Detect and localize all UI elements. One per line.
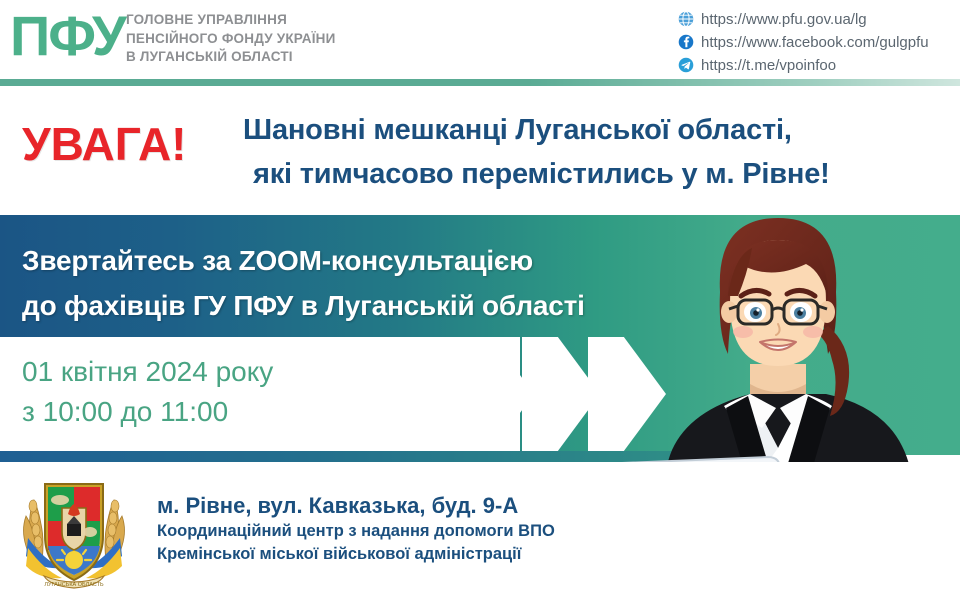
telegram-icon: [678, 57, 694, 73]
organization-title: Головне управління пенсійного фонду Укра…: [126, 11, 456, 67]
address-line-2: Координаційний центр з надання допомоги …: [157, 520, 555, 543]
poster: ПФУ Головне управління пенсійного фонду …: [0, 0, 960, 600]
address-line-1: м. Рівне, вул. Кавказька, буд. 9-А: [157, 492, 555, 520]
website-url: https://www.pfu.gov.ua/lg: [701, 11, 867, 28]
svg-text:ЛУГАНСЬКА ОБЛАСТЬ: ЛУГАНСЬКА ОБЛАСТЬ: [44, 582, 104, 588]
facebook-icon: [678, 34, 694, 50]
globe-icon: [678, 11, 694, 27]
org-line-2: пенсійного фонду України: [126, 30, 456, 49]
pfu-logo: ПФУ: [10, 6, 125, 66]
telegram-url: https://t.me/vpoinfoo: [701, 57, 836, 74]
header-divider: [0, 79, 960, 86]
band-bottom-strip: [0, 451, 700, 462]
greeting-text: Шановні мешканці Луганської області, які…: [243, 108, 943, 196]
greeting-line-1: Шановні мешканці Луганської області,: [243, 108, 943, 152]
band-message: Звертайтесь за ZOOM-консультацією до фах…: [22, 238, 585, 328]
contact-links: https://www.pfu.gov.ua/lg https://www.fa…: [678, 8, 929, 77]
band-line-1: Звертайтесь за ZOOM-консультацією: [22, 238, 585, 283]
address-line-3: Кремінської міської військової адміністр…: [157, 543, 555, 566]
band-line-2: до фахівців ГУ ПФУ в Луганській області: [22, 283, 585, 328]
facebook-url: https://www.facebook.com/gulgpfu: [701, 34, 929, 51]
schedule-date: 01 квітня 2024 року: [22, 352, 273, 392]
website-link[interactable]: https://www.pfu.gov.ua/lg: [678, 8, 929, 30]
schedule-text: 01 квітня 2024 року з 10:00 до 11:00: [22, 352, 273, 432]
poster-header: ПФУ Головне управління пенсійного фонду …: [0, 0, 960, 82]
luhansk-oblast-coat-of-arms: ЛУГАНСЬКА ОБЛАСТЬ: [14, 470, 134, 594]
telegram-link[interactable]: https://t.me/vpoinfoo: [678, 54, 929, 76]
attention-label: УВАГА!: [22, 118, 186, 170]
address-block: м. Рівне, вул. Кавказька, буд. 9-А Коорд…: [157, 492, 555, 566]
schedule-time: з 10:00 до 11:00: [22, 392, 273, 432]
greeting-line-2: які тимчасово перемістились у м. Рівне!: [243, 152, 943, 196]
org-line-1: Головне управління: [126, 11, 456, 30]
org-line-3: в Луганській області: [126, 48, 456, 67]
facebook-link[interactable]: https://www.facebook.com/gulgpfu: [678, 31, 929, 53]
